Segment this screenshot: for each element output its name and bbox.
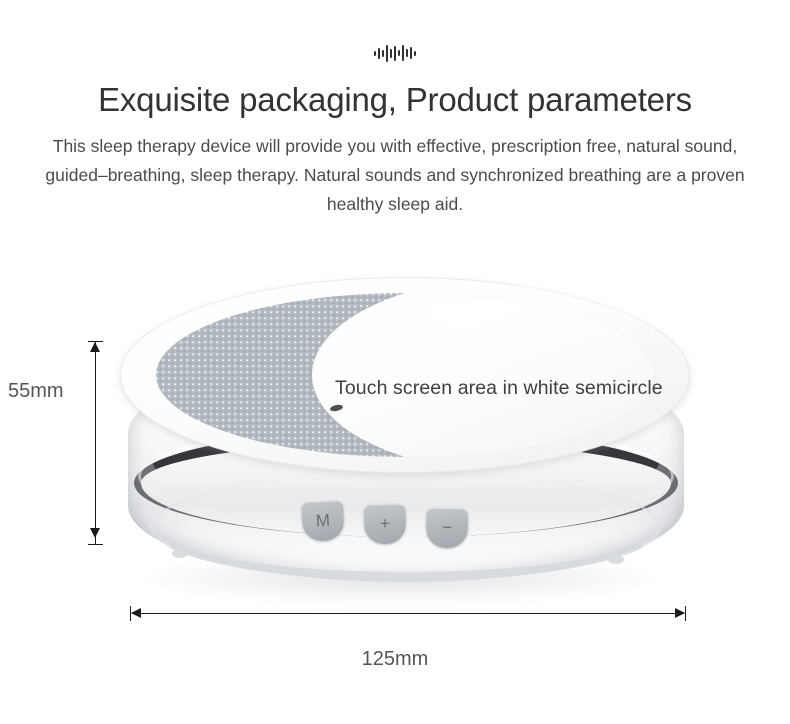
sleep-therapy-device: Touch screen area in white semicircle M …: [120, 277, 690, 597]
device-foot-right: [608, 555, 624, 564]
page-header: Exquisite packaging, Product parameters …: [0, 0, 790, 219]
touch-screen-area[interactable]: [312, 293, 654, 457]
product-image: Touch screen area in white semicircle M …: [0, 255, 790, 635]
waveform-bar: [374, 51, 376, 56]
volume-down-button[interactable]: −: [426, 508, 469, 549]
height-shaft: [95, 342, 96, 544]
width-arrow-left: [131, 608, 141, 618]
sound-waveform-icon: [372, 40, 418, 66]
waveform-bar: [386, 45, 388, 62]
waveform-bar: [394, 46, 396, 61]
width-dimension-label: 125mm: [0, 648, 790, 671]
height-arrow-up: [90, 342, 100, 352]
waveform-bar: [398, 50, 400, 56]
page-title: Exquisite packaging, Product parameters: [0, 80, 790, 120]
height-cap-bottom: [88, 544, 103, 545]
mode-button[interactable]: M: [301, 500, 345, 542]
touch-area-caption: Touch screen area in white semicircle: [335, 377, 663, 399]
height-arrow-down: [90, 528, 100, 538]
waveform-bar: [406, 49, 408, 57]
device-button-row: M + −: [302, 499, 502, 545]
device-top-face: [120, 277, 690, 473]
waveform-bar: [402, 45, 404, 61]
waveform-bar: [390, 49, 392, 58]
waveform-bar: [414, 51, 416, 56]
device-top-plate: [156, 293, 654, 457]
waveform-bar: [382, 50, 384, 57]
width-dimension-line: [128, 604, 688, 624]
page-subtitle: This sleep therapy device will provide y…: [45, 132, 745, 219]
width-cap-right: [685, 606, 686, 621]
waveform-bar: [410, 47, 412, 59]
volume-up-button[interactable]: +: [364, 504, 407, 545]
device-foot-left: [172, 549, 188, 558]
height-dimension-line: [86, 336, 106, 550]
height-dimension-label: 55mm: [8, 380, 82, 403]
waveform-bar: [378, 48, 380, 59]
width-shaft: [132, 613, 684, 614]
width-arrow-right: [675, 608, 685, 618]
